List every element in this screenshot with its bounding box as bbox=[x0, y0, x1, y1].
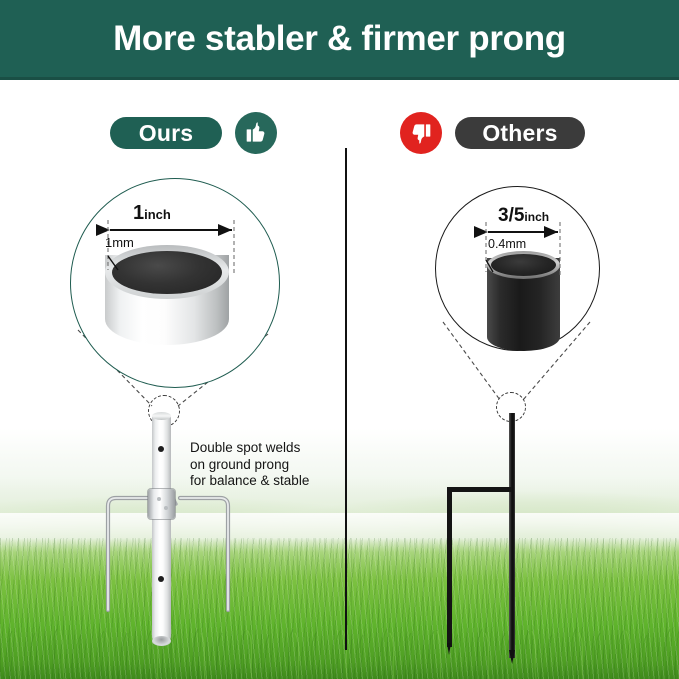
weld-point-1 bbox=[157, 497, 161, 501]
annotation-line-1: Double spot welds bbox=[190, 440, 309, 457]
thumbs-up-icon bbox=[235, 112, 277, 154]
stake-others-side-prong-tip bbox=[447, 643, 451, 655]
stake-ours-hole-lower bbox=[158, 576, 164, 582]
stake-ours-hole-upper bbox=[158, 446, 164, 452]
badge-ours: Ours bbox=[110, 117, 222, 149]
dimension-arrow-others bbox=[435, 186, 600, 351]
annotation-line-2: on ground prong bbox=[190, 457, 309, 474]
product-comparison-infographic: More stabler & firmer prong bbox=[0, 0, 679, 679]
stake-others-rod bbox=[509, 413, 515, 658]
badge-ours-label: Ours bbox=[139, 120, 193, 147]
thumbs-down-icon bbox=[400, 112, 442, 154]
dimension-thickness-ours: 1mm bbox=[105, 236, 134, 249]
stake-ours-cap bbox=[152, 412, 171, 420]
vertical-divider bbox=[345, 148, 347, 650]
dimension-thickness-others: 0.4mm bbox=[488, 238, 526, 251]
stake-others-side-prong bbox=[447, 487, 452, 647]
badge-others-label: Others bbox=[482, 120, 557, 147]
stake-others-crossbar bbox=[447, 487, 512, 492]
badge-others: Others bbox=[455, 117, 585, 149]
header-banner: More stabler & firmer prong bbox=[0, 0, 679, 80]
stake-others-tip bbox=[509, 650, 515, 664]
stake-ours-foot bbox=[152, 636, 171, 646]
stake-ours-collar bbox=[148, 489, 175, 519]
dimension-arrow-ours bbox=[70, 178, 280, 388]
page-title: More stabler & firmer prong bbox=[113, 21, 566, 56]
prongs-ours bbox=[60, 480, 290, 660]
weld-point-2 bbox=[164, 506, 168, 510]
